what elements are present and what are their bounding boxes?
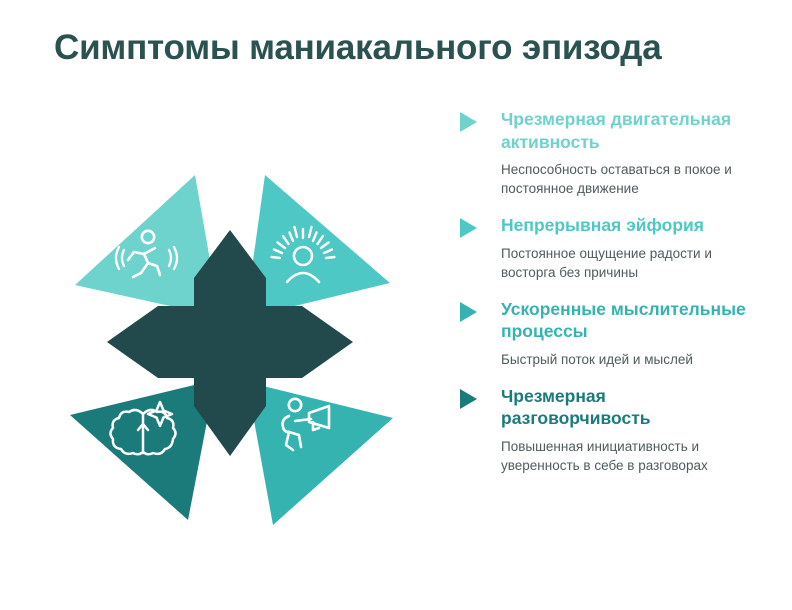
list-item: Ускоренные мыслительные процессы Быстрый… <box>460 298 760 369</box>
triangle-right-icon <box>460 302 477 322</box>
list-item-description: Неспособность оставаться в покое и посто… <box>501 160 753 198</box>
triangle-top-right-shape <box>245 175 390 318</box>
triangle-bottom-left <box>70 380 215 520</box>
list-item-title: Чрезмерная разговорчивость <box>501 385 760 430</box>
page-title: Симптомы маниакального эпизода <box>54 26 764 70</box>
list-item: Чрезмерная двигательная активность Неспо… <box>460 108 760 198</box>
symptom-graphic <box>55 170 405 525</box>
list-item-title: Ускоренные мыслительные процессы <box>501 298 760 343</box>
list-item-description: Быстрый поток идей и мыслей <box>501 350 753 369</box>
triangle-bottom-right <box>247 382 393 525</box>
triangle-right-icon <box>460 112 477 132</box>
list-item-title: Чрезмерная двигательная активность <box>501 108 760 153</box>
list-item: Чрезмерная разговорчивость Повышенная ин… <box>460 385 760 475</box>
list-item-description: Повышенная инициативность и уверенность … <box>501 437 753 475</box>
triangle-bottom-right-shape <box>247 382 393 525</box>
list-item-title: Непрерывная эйфория <box>501 214 760 237</box>
list-item: Непрерывная эйфория Постоянное ощущение … <box>460 214 760 282</box>
triangle-top-right <box>245 175 390 318</box>
triangle-right-icon <box>460 218 477 238</box>
list-item-description: Постоянное ощущение радости и восторга б… <box>501 244 753 282</box>
triangle-right-icon <box>460 389 477 409</box>
infographic-page: Симптомы маниакального эпизода <box>0 0 792 610</box>
symptom-list: Чрезмерная двигательная активность Неспо… <box>460 108 760 475</box>
